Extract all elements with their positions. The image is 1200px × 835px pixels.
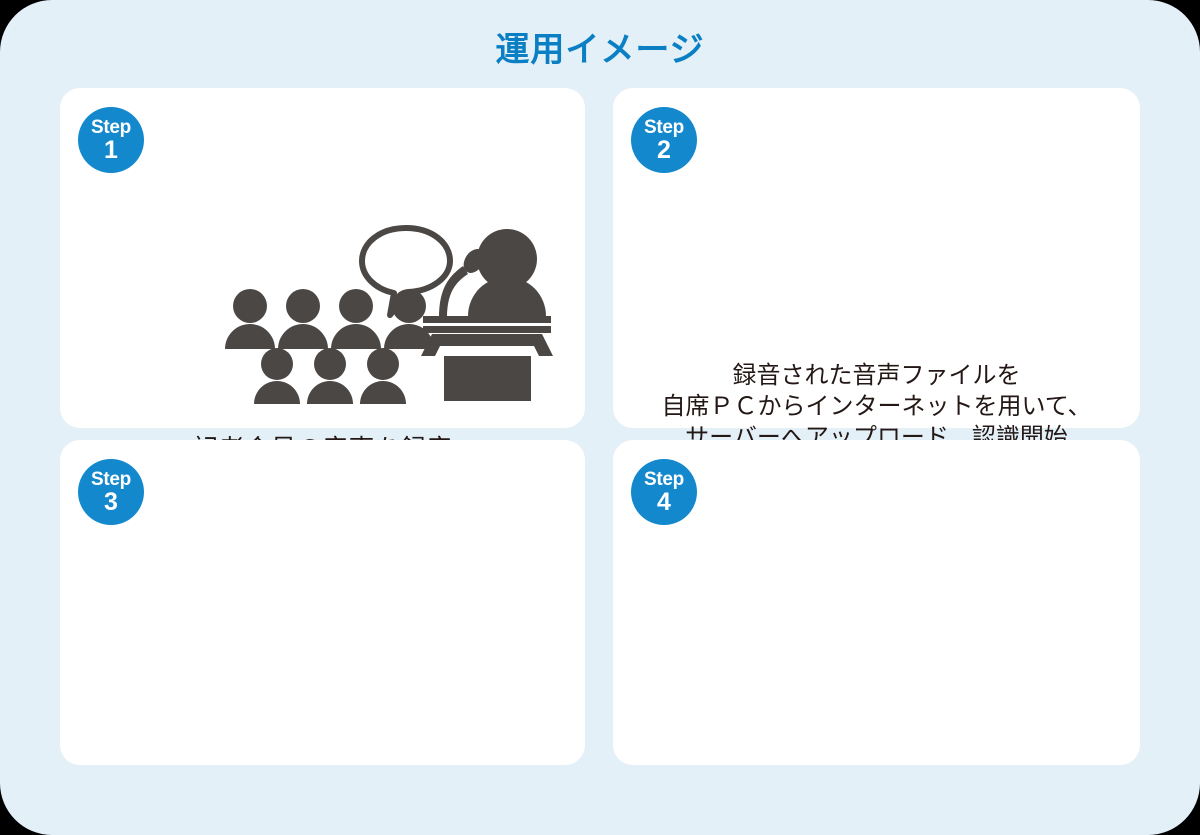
press-conference-illustration	[210, 216, 572, 421]
step-badge-4: Step 4	[631, 459, 697, 525]
step-badge-word: Step	[91, 118, 131, 137]
infographic-page: 運用イメージ Step 1	[0, 0, 1200, 835]
step-badge-number: 4	[657, 490, 671, 515]
step-badge-number: 2	[657, 138, 671, 163]
step-badge-3: Step 3	[78, 459, 144, 525]
step-card-2: Step 2	[613, 88, 1140, 428]
step-card-3: Step 3 Vtxt	[60, 440, 585, 765]
step-badge-word: Step	[644, 118, 684, 137]
step-card-1: Step 1	[60, 88, 585, 428]
step-badge-number: 1	[104, 138, 118, 163]
step-badge-number: 3	[104, 490, 118, 515]
step-badge-2: Step 2	[631, 107, 697, 173]
page-title: 運用イメージ	[0, 22, 1200, 71]
step-badge-word: Step	[91, 470, 131, 489]
step-card-4: Step 4 福島県 ようこそ	[613, 440, 1140, 765]
press-conference-icon	[210, 216, 572, 416]
step-badge-word: Step	[644, 470, 684, 489]
step-badge-1: Step 1	[78, 107, 144, 173]
